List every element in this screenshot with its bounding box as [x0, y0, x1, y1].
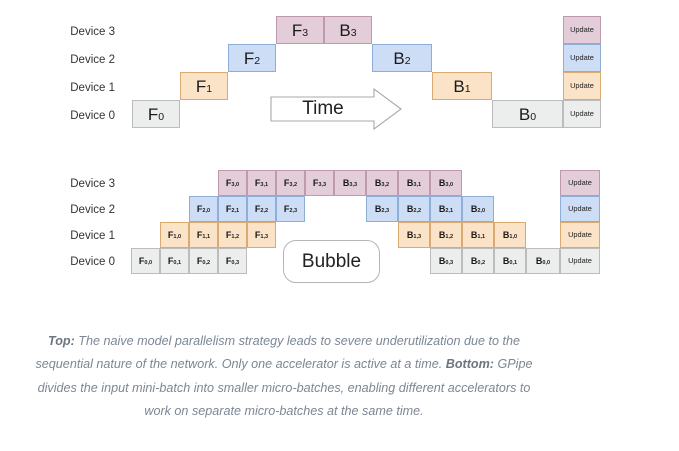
bottom-cell: B3,2 — [366, 170, 398, 196]
bottom-cell: F0,3 — [218, 248, 247, 274]
bottom-cell: B0,0 — [526, 248, 560, 274]
top-cell-B2: B2 — [372, 44, 432, 72]
bottom-cell: B2,1 — [430, 196, 462, 222]
bottom-device-label-1: Device 1 — [35, 231, 115, 243]
bottom-device-label-2: Device 2 — [35, 205, 115, 217]
bottom-cell: B0,3 — [430, 248, 462, 274]
bottom-cell: B3,0 — [430, 170, 462, 196]
bottom-cell: B0,1 — [494, 248, 526, 274]
top-cell-F3: F3 — [276, 16, 324, 44]
bottom-cell: B0,2 — [462, 248, 494, 274]
top-cell-F1: F1 — [180, 72, 228, 100]
bottom-cell: B1,1 — [462, 222, 494, 248]
bottom-cell: F1,1 — [189, 222, 218, 248]
top-cell-B1: B1 — [432, 72, 492, 100]
caption-lead-bottom: Bottom: — [446, 357, 494, 371]
top-cell-F0: F0 — [132, 100, 180, 128]
bottom-cell: F1,0 — [160, 222, 189, 248]
bottom-update-3: Update — [560, 170, 600, 196]
bottom-cell: F3,1 — [247, 170, 276, 196]
bottom-cell: F0,1 — [160, 248, 189, 274]
top-device-label-2: Device 2 — [35, 55, 115, 67]
bottom-cell: F2,0 — [189, 196, 218, 222]
bottom-cell: F2,1 — [218, 196, 247, 222]
bottom-cell: F3,2 — [276, 170, 305, 196]
time-arrow: Time — [270, 88, 402, 130]
bottom-cell: F3,0 — [218, 170, 247, 196]
bottom-update-1: Update — [560, 222, 600, 248]
top-cell-B3: B3 — [324, 16, 372, 44]
bottom-cell: F2,3 — [276, 196, 305, 222]
bottom-cell: B2,0 — [462, 196, 494, 222]
caption-lead-top: Top: — [48, 334, 75, 348]
bottom-cell: F2,2 — [247, 196, 276, 222]
bottom-cell: B3,1 — [398, 170, 430, 196]
figure-caption: Top: The naive model parallelism strateg… — [28, 330, 540, 423]
top-device-label-1: Device 1 — [35, 83, 115, 95]
bottom-device-label-0: Device 0 — [35, 257, 115, 269]
bubble-box: Bubble — [283, 240, 380, 283]
bottom-cell: F1,2 — [218, 222, 247, 248]
figure-canvas: Device 3 Device 2 Device 1 Device 0 F3 B… — [0, 0, 679, 451]
bottom-cell: B2,3 — [366, 196, 398, 222]
bottom-cell: F3,3 — [305, 170, 334, 196]
top-update-2: Update — [563, 44, 601, 72]
bottom-cell: B3,3 — [334, 170, 366, 196]
top-update-0: Update — [563, 100, 601, 128]
top-cell-F2: F2 — [228, 44, 276, 72]
bottom-cell: F1,3 — [247, 222, 276, 248]
bottom-cell: B2,2 — [398, 196, 430, 222]
bottom-cell: B1,2 — [430, 222, 462, 248]
top-device-label-3: Device 3 — [35, 27, 115, 39]
top-cell-B0: B0 — [492, 100, 563, 128]
bottom-cell: B1,0 — [494, 222, 526, 248]
top-device-label-0: Device 0 — [35, 111, 115, 123]
bottom-cell: F0,0 — [131, 248, 160, 274]
top-update-1: Update — [563, 72, 601, 100]
bottom-update-0: Update — [560, 248, 600, 274]
time-arrow-icon — [270, 88, 402, 130]
bottom-update-2: Update — [560, 196, 600, 222]
bottom-cell: F0,2 — [189, 248, 218, 274]
top-update-3: Update — [563, 16, 601, 44]
bottom-cell: B1,3 — [398, 222, 430, 248]
bottom-device-label-3: Device 3 — [35, 179, 115, 191]
